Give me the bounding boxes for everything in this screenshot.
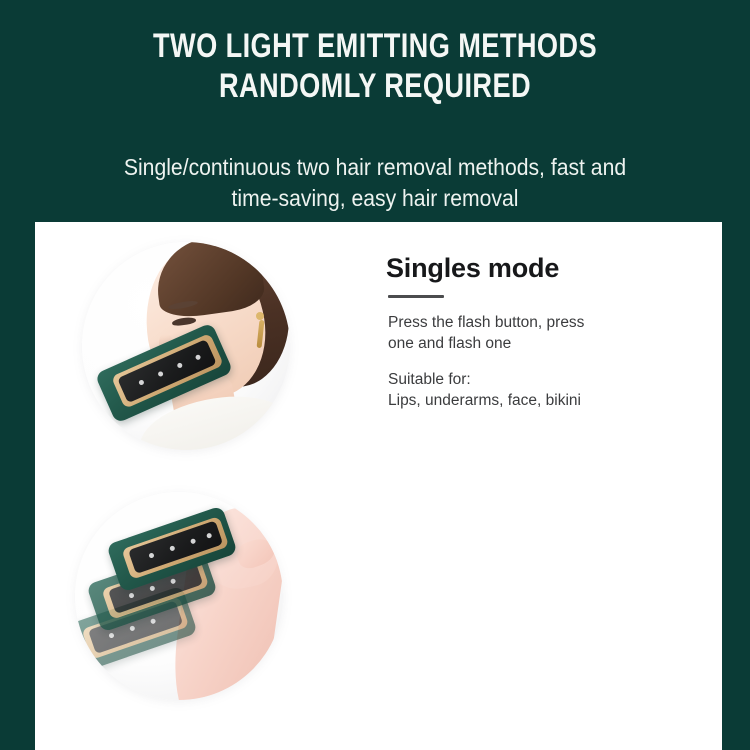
photo-singles-mode: [82, 242, 290, 450]
page-title: TWO LIGHT EMITTING METHODS RANDOMLY REQU…: [75, 26, 675, 106]
device-indicator-dot: [170, 578, 176, 584]
suitable-for-label: Suitable for:: [388, 369, 716, 390]
mode-row-singles: Singles mode Press the flash button, pre…: [35, 234, 722, 484]
mode-row-continuous: Continuous flash mode Press the flash bu…: [35, 484, 722, 734]
content-card: Singles mode Press the flash button, pre…: [35, 222, 722, 750]
device-indicator-dot: [169, 545, 175, 551]
device-indicator-dot: [129, 625, 135, 631]
device-indicator-dot: [108, 632, 114, 638]
title-underline-rule: [388, 295, 444, 298]
device-indicator-dot: [157, 370, 164, 377]
mode-text-singles: Singles mode Press the flash button, pre…: [386, 252, 716, 411]
device-indicator-dot: [206, 533, 212, 539]
device-indicator-dot: [149, 585, 155, 591]
device-indicator-dot: [128, 592, 134, 598]
device-indicator-dot: [138, 379, 145, 386]
earring-stud-shape: [256, 312, 264, 320]
photo-continuous-mode: [75, 492, 283, 700]
header-section: TWO LIGHT EMITTING METHODS RANDOMLY REQU…: [0, 0, 750, 222]
mode-description: Press the flash button, press one and fl…: [388, 312, 716, 354]
device-indicator-dot: [194, 354, 201, 361]
product-feature-banner: TWO LIGHT EMITTING METHODS RANDOMLY REQU…: [0, 0, 750, 750]
device-indicator-dot: [148, 552, 154, 558]
device-indicator-dot: [190, 538, 196, 544]
device-indicator-dot: [177, 362, 184, 369]
mode-title: Singles mode: [386, 252, 716, 285]
page-subtitle: Single/continuous two hair removal metho…: [30, 152, 720, 214]
device-indicator-dot: [150, 618, 156, 624]
suitable-for-value: Lips, underarms, face, bikini: [388, 390, 716, 411]
